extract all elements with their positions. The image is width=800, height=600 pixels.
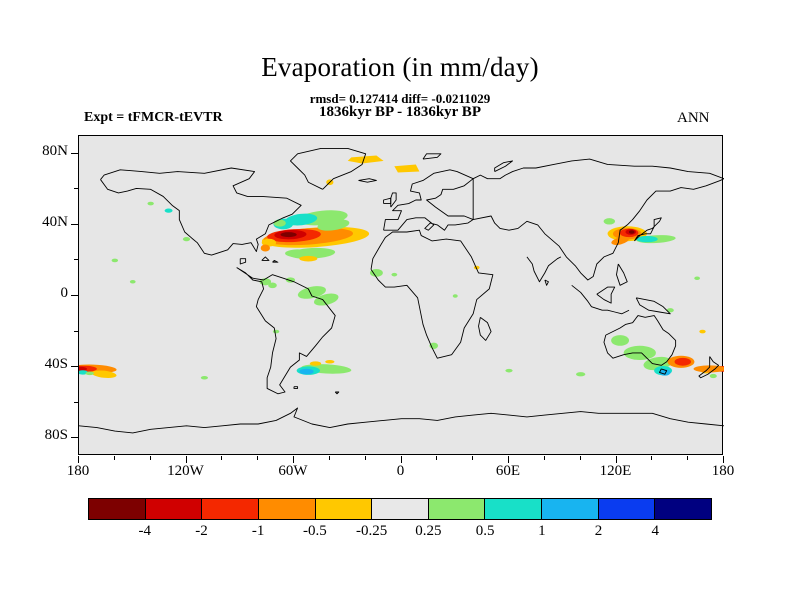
colorbar-swatch [259,499,316,519]
longitude-tick-label: 60W [253,463,333,480]
longitude-tick [616,456,617,463]
anomaly-blob [201,376,208,380]
coastline-segment [371,230,493,358]
anomaly-blob [453,294,458,298]
latitude-tick-label: 40N [16,214,68,231]
coastline-segment [384,170,474,230]
latitude-minor-tick [74,188,78,189]
anomaly-blob [281,232,297,237]
anomaly-blob [576,372,585,376]
coastline-segment [423,154,441,159]
longitude-tick-label: 120W [146,463,226,480]
anomaly-blob [147,202,153,206]
longitude-tick-label: 0 [361,463,441,480]
figure-canvas: Evaporation (in mm/day) rmsd= 0.127414 d… [0,0,800,600]
anomaly-blob [183,237,190,241]
coastline-segment [79,408,724,433]
coastline-segment [545,280,549,285]
coastline-segment [273,260,278,262]
longitude-minor-tick [257,456,258,460]
season-label: ANN [677,110,710,127]
longitude-minor-tick [544,456,545,460]
colorbar-swatch [429,499,486,519]
colorbar-tick-label: 1 [512,523,572,540]
colorbar-tick-label: -4 [115,523,175,540]
coastline-segment [473,159,724,280]
coastline-segment [479,317,492,340]
anomaly-blob [699,330,705,334]
colorbar-swatch [89,499,146,519]
longitude-minor-tick [472,456,473,460]
longitude-tick [78,456,79,463]
colorbar-swatch [202,499,259,519]
colorbar-tick-label: 4 [625,523,685,540]
coastline-segment [597,287,615,303]
anomaly-blob [299,369,313,375]
longitude-minor-tick [114,456,115,460]
anomaly-blob [261,244,270,251]
anomaly-blob [130,280,136,284]
latitude-tick [71,224,78,225]
longitude-minor-tick [329,456,330,460]
anomaly-blob [675,358,691,366]
coastline-segment [495,161,513,172]
anomaly-blob [112,259,118,263]
latitude-minor-tick [74,259,78,260]
colorbar-swatch [485,499,542,519]
colorbar [88,498,712,520]
latitude-tick [71,295,78,296]
longitude-minor-tick [687,456,688,460]
anomaly-blob [273,330,279,334]
longitude-tick [723,456,724,463]
longitude-tick-label: 180 [38,463,118,480]
colorbar-swatch [655,499,711,519]
colorbar-swatch [542,499,599,519]
anomaly-blob [348,156,384,164]
anomaly-blob [391,273,397,277]
longitude-tick-label: 60E [468,463,548,480]
anomaly-blob [694,276,700,280]
coastline-segment [240,259,245,264]
latitude-tick [71,153,78,154]
latitude-tick-label: 80S [16,427,68,444]
experiment-label: Expt = tFMCR-tEVTR [84,110,223,126]
colorbar-tick-label: -2 [171,523,231,540]
colorbar-tick-label: 2 [569,523,629,540]
anomaly-blob [636,236,658,242]
anomaly-field [79,156,724,380]
colorbar-swatch [316,499,373,519]
coastline-segment [636,298,670,314]
longitude-minor-tick [436,456,437,460]
longitude-tick [508,456,509,463]
longitude-minor-tick [651,456,652,460]
longitude-tick [186,456,187,463]
coastline-segment [384,198,391,203]
coastlines [79,148,724,432]
coastline-segment [572,285,629,313]
colorbar-swatch [146,499,203,519]
latitude-tick-label: 40S [16,356,68,373]
coastline-segment [335,392,339,394]
anomaly-blob [85,372,94,376]
colorbar-tick-label: 0.25 [398,523,458,540]
longitude-tick [401,456,402,463]
anomaly-blob [268,282,277,288]
latitude-minor-tick [74,402,78,403]
colorbar-tick-label: -1 [228,523,288,540]
anomaly-blob [694,365,724,372]
anomaly-blob [604,218,615,224]
colorbar-tick-label: -0.5 [285,523,345,540]
longitude-minor-tick [580,456,581,460]
latitude-tick [71,437,78,438]
anomaly-blob [165,209,173,213]
latitude-tick [71,366,78,367]
anomaly-blob [629,230,635,234]
colorbar-swatch [599,499,656,519]
coastline-segment [527,257,561,282]
coastline-segment [359,179,377,183]
latitude-minor-tick [74,331,78,332]
anomaly-blob [710,374,717,378]
coastline-segment [294,387,298,389]
latitude-tick-label: 0 [16,285,68,302]
anomaly-blob [394,164,419,172]
colorbar-tick-label: 0.5 [455,523,515,540]
anomaly-blob [505,369,512,373]
coastline-segment [617,264,628,285]
anomaly-blob [325,360,334,364]
anomaly-blob [274,220,286,227]
longitude-tick-label: 120E [576,463,656,480]
coastline-segment [262,257,269,261]
longitude-minor-tick [221,456,222,460]
colorbar-tick-label: -0.25 [342,523,402,540]
world-map-svg [79,136,724,456]
colorbar-swatch [372,499,429,519]
anomaly-blob [310,361,321,365]
anomaly-blob [299,256,317,262]
longitude-tick-label: 180 [683,463,763,480]
anomaly-blob [611,335,629,346]
coastline-segment [391,193,396,207]
longitude-tick [293,456,294,463]
longitude-minor-tick [150,456,151,460]
longitude-minor-tick [365,456,366,460]
latitude-tick-label: 80N [16,143,68,160]
map-plot-area [78,135,723,455]
figure-title: Evaporation (in mm/day) [0,52,800,83]
